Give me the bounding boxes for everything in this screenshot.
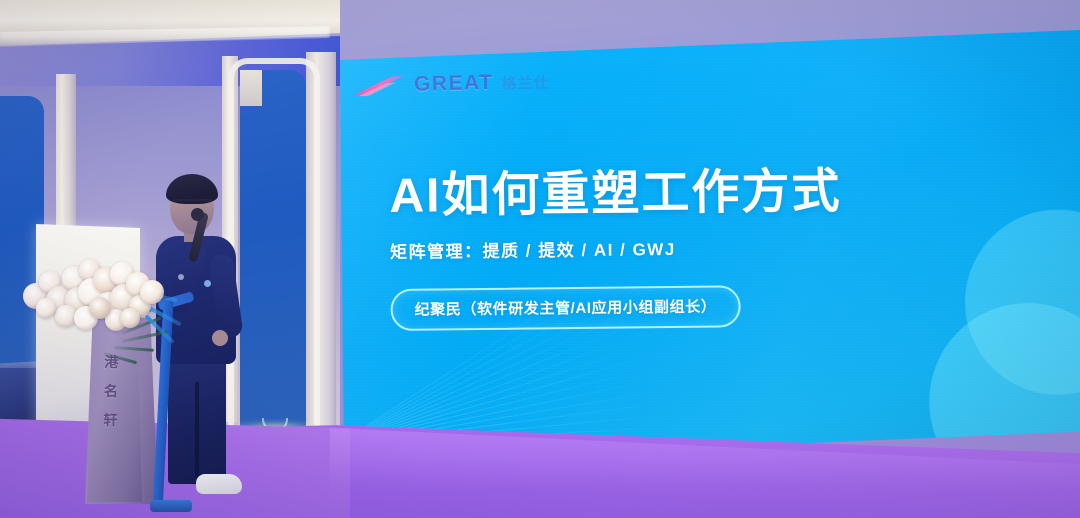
palm-frond [104, 352, 138, 364]
floral-arrangement [30, 256, 190, 364]
speaker-name-pill: 纪聚民（软件研发主管/AI应用小组副组长） [390, 285, 740, 331]
screenshot-stage: GREAT 格兰仕 AI如何重塑工作方式 矩阵管理：提质 / 提效 / AI /… [0, 0, 1080, 518]
decor-panel-notch [240, 70, 262, 106]
flower-bloom [140, 280, 164, 304]
slide-headline-block: AI如何重塑工作方式 矩阵管理：提质 / 提效 / AI / GWJ 纪聚民（软… [389, 165, 951, 331]
palm-frond [114, 346, 154, 352]
presenter-right-hand [212, 330, 228, 346]
presenter-badge-dot [204, 280, 211, 287]
flower-bloom [89, 297, 111, 319]
slide-subtitle: 矩阵管理：提质 / 提效 / AI / GWJ [390, 232, 950, 263]
slide-title: AI如何重塑工作方式 [389, 165, 950, 224]
led-presentation-screen: GREAT 格兰仕 AI如何重塑工作方式 矩阵管理：提质 / 提效 / AI /… [334, 30, 1080, 462]
flower-bloom [120, 308, 140, 328]
logo-wordmark: GREAT [414, 71, 494, 97]
presenter-leg-split [195, 382, 199, 478]
swoosh-icon [352, 74, 407, 97]
glasses-icon [172, 199, 212, 207]
flower-bloom [36, 298, 56, 318]
presenter-shoe [196, 474, 242, 494]
logo-cn-mark: 格兰仕 [501, 71, 550, 93]
brand-logo: GREAT 格兰仕 [352, 70, 550, 99]
podium-char: 名 [104, 381, 118, 401]
podium-char: 轩 [103, 410, 117, 430]
microphone-stand-base [150, 500, 192, 512]
microphone-head [191, 208, 204, 221]
